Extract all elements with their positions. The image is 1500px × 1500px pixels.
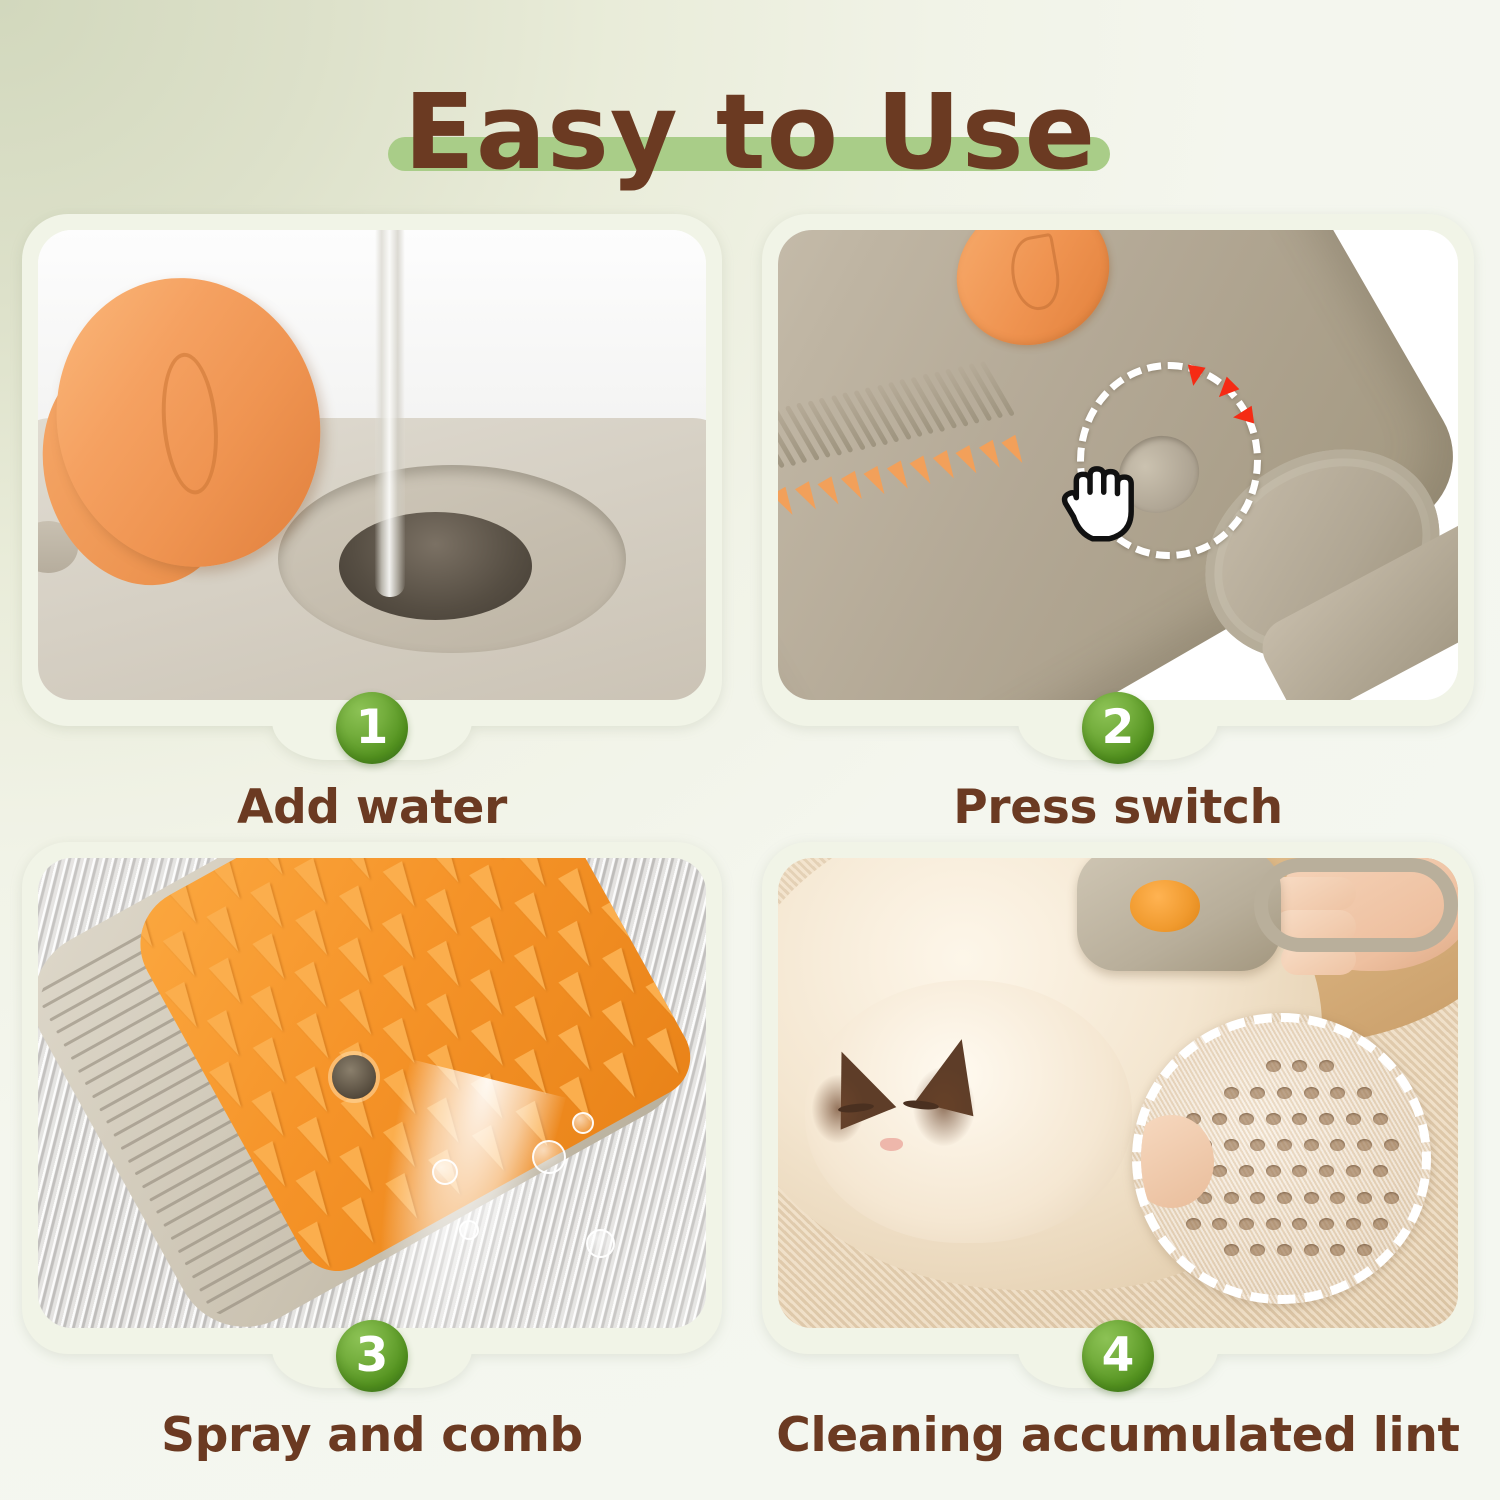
step-photo-4: [778, 858, 1458, 1328]
photo4-bristle-hole: [1212, 1218, 1227, 1230]
photo3-silicone-spike: [426, 993, 468, 1044]
photo3-silicone-spike: [601, 1001, 643, 1052]
photo4-bristle-hole: [1319, 1218, 1334, 1230]
step-number-2: 2: [1102, 704, 1135, 751]
photo3-silicone-spike: [338, 938, 380, 989]
photo3-silicone-spike: [382, 913, 424, 964]
photo3-comb-line: [199, 1229, 308, 1291]
photo3-silicone-spike: [558, 1025, 600, 1076]
photo4-bristle-hole: [1304, 1192, 1319, 1204]
photo4-bristle-hole: [1304, 1139, 1319, 1151]
photo4-cat-nose: [880, 1138, 903, 1151]
step-badge-1: 1: [336, 692, 408, 764]
photo4-bristle-hole: [1277, 1192, 1292, 1204]
photo3-silicone-spike: [207, 1010, 249, 1061]
photo3-silicone-spike: [296, 1170, 338, 1221]
photo3-silicone-spike: [514, 945, 556, 996]
photo4-bristle-hole: [1330, 1244, 1345, 1256]
photo3-silicone-spike: [250, 882, 292, 933]
photo4-bristle-hole: [1346, 1165, 1361, 1177]
photo4-bristle-hole: [1224, 1244, 1239, 1256]
photo4-bristle-hole: [1373, 1113, 1388, 1125]
step-photo-1: [38, 230, 706, 700]
photo3-silicone-spike: [383, 965, 425, 1016]
photo4-bristle-hole: [1224, 1139, 1239, 1151]
photo4-inset-thumb: [1132, 1115, 1214, 1208]
step-caption-2: Press switch: [762, 780, 1474, 835]
photo3-silicone-spike: [515, 996, 557, 1047]
photo3-silicone-spike: [558, 868, 600, 919]
photo3-comb-line: [156, 1152, 265, 1214]
photo3-silicone-spike: [471, 1020, 513, 1071]
step-photo-3: [38, 858, 706, 1328]
photo3-silicone-spike: [251, 986, 293, 1037]
photo4-bristle-hole: [1239, 1113, 1254, 1125]
photo3-comb-line: [114, 1075, 223, 1137]
photo3-comb-line: [178, 1191, 287, 1253]
photo4-bristle-hole: [1357, 1087, 1372, 1099]
photo4-bristle-hole: [1212, 1113, 1227, 1125]
photo3-comb-line: [171, 1178, 280, 1240]
photo3-comb-line: [57, 972, 166, 1034]
photo4-bristle-hole: [1357, 1139, 1372, 1151]
photo2-click-spark-1: [1184, 365, 1205, 388]
photo4-bristle-hole: [1319, 1060, 1334, 1072]
photo3-comb-line: [49, 959, 158, 1021]
title-wrapper: Easy to Use: [404, 77, 1096, 187]
photo3-comb-line: [85, 1023, 194, 1085]
photo3-steam-nozzle: [332, 1055, 376, 1099]
photo3-silicone-spike: [470, 969, 512, 1020]
step-badge-2: 2: [1082, 692, 1154, 764]
photo4-bristle-hole: [1277, 1087, 1292, 1099]
photo4-brush-device: [1077, 858, 1281, 971]
photo3-silicone-spike: [426, 889, 468, 940]
step-badge-4: 4: [1082, 1320, 1154, 1392]
photo3-silicone-spike: [339, 885, 381, 936]
step-caption-1: Add water: [22, 780, 722, 835]
photo3-comb-line: [192, 1217, 301, 1279]
photo4-bristle-hole: [1212, 1165, 1227, 1177]
photo3-silicone-spike: [603, 1052, 645, 1103]
photo4-bristle-hole: [1292, 1060, 1307, 1072]
photo4-bristle-hole: [1330, 1139, 1345, 1151]
photo3-comb-line: [99, 1049, 208, 1111]
photo3-comb-line: [128, 1101, 237, 1163]
photo3-silicone-spike: [470, 858, 512, 863]
photo3-silicone-spike: [296, 1013, 338, 1064]
photo4-bristle-hole: [1384, 1139, 1399, 1151]
hand-cursor-icon: [1057, 451, 1145, 547]
photo3-bubble-3: [432, 1159, 458, 1185]
photo1-water-stream: [375, 230, 405, 597]
photo4-bristle-hole: [1330, 1192, 1345, 1204]
photo3-silicone-spike: [251, 858, 293, 880]
photo4-bristle-hole: [1357, 1192, 1372, 1204]
photo4-bristle-hole: [1357, 1244, 1372, 1256]
photo3-comb-line: [135, 1114, 244, 1176]
photo4-bristle-hole: [1292, 1113, 1307, 1125]
photo4-bristle-hole: [1266, 1113, 1281, 1125]
page-title-block: Easy to Use: [0, 62, 1500, 202]
photo3-silicone-spike: [338, 858, 380, 884]
photo4-bristle-hole: [1224, 1192, 1239, 1204]
photo4-bristle-hole: [1250, 1087, 1265, 1099]
photo3-silicone-spike: [297, 1117, 339, 1168]
photo4-bristle-hole: [1319, 1165, 1334, 1177]
photo3-silicone-spike: [207, 906, 249, 957]
photo3-silicone-spike: [208, 957, 250, 1008]
photo3-comb-line: [121, 1088, 230, 1150]
photo3-silicone-spike: [469, 865, 511, 916]
photo4-bristle-hole: [1304, 1087, 1319, 1099]
photo1-fill-hole-opening: [339, 512, 533, 620]
photo4-bristle-hole: [1292, 1165, 1307, 1177]
page-title: Easy to Use: [404, 77, 1096, 187]
photo3-silicone-spike: [252, 1090, 294, 1141]
photo4-bristle-hole: [1266, 1165, 1281, 1177]
photo4-brush-handle-loop: [1254, 858, 1458, 952]
photo3-silicone-spike: [514, 892, 556, 943]
steps-grid: 1 Add water: [0, 214, 1500, 1500]
photo3-comb-line: [149, 1139, 258, 1201]
photo3-comb-line: [64, 985, 173, 1047]
photo3-silicone-spike: [253, 1037, 295, 1088]
photo3-silicone-spike: [383, 861, 425, 912]
photo4-bristle-hole: [1250, 1244, 1265, 1256]
photo3-comb-line: [164, 1165, 273, 1227]
photo3-comb-line: [92, 1036, 201, 1098]
step-photo-2: [778, 230, 1458, 700]
photo3-silicone-spike: [557, 921, 599, 972]
photo2-click-spark-3: [1231, 406, 1253, 427]
photo3-silicone-spike: [340, 989, 382, 1040]
photo3-silicone-spike: [294, 858, 336, 909]
photo4-bristle-hole: [1250, 1192, 1265, 1204]
photo4-bristle-hole: [1250, 1139, 1265, 1151]
photo4-bristle-hole: [1304, 1244, 1319, 1256]
photo3-silicone-spike: [163, 930, 205, 981]
photo3-silicone-spike: [471, 916, 513, 967]
step-badge-3: 3: [336, 1320, 408, 1392]
photo4-cat-face: [805, 980, 1131, 1243]
photo3-silicone-spike: [559, 972, 601, 1023]
photo4-brush-button: [1130, 880, 1199, 931]
photo3-comb-line: [142, 1126, 251, 1188]
photo4-bristle-hole: [1224, 1087, 1239, 1099]
photo3-silicone-spike: [340, 1093, 382, 1144]
photo3-silicone-spike: [295, 962, 337, 1013]
photo4-bristle-hole: [1346, 1113, 1361, 1125]
photo4-bristle-hole: [1346, 1218, 1361, 1230]
step-card-3: 3 Spray and comb: [22, 842, 722, 1482]
photo4-bristle-hole: [1239, 1165, 1254, 1177]
photo3-comb-line: [107, 1062, 216, 1124]
infographic-root: Easy to Use 1 Add water: [0, 0, 1500, 1500]
photo4-bristle-hole: [1266, 1060, 1281, 1072]
photo4-bristle-hole: [1277, 1244, 1292, 1256]
photo3-comb-line: [185, 1204, 294, 1266]
photo3-silicone-spike: [427, 941, 469, 992]
photo3-silicone-spike: [252, 933, 294, 984]
photo3-silicone-spike: [647, 1028, 689, 1079]
step-number-4: 4: [1102, 1332, 1135, 1379]
photo4-bristle-hole: [1384, 1192, 1399, 1204]
photo4-bristle-hole: [1330, 1087, 1345, 1099]
photo3-silicone-spike: [513, 858, 555, 892]
step-card-4: 4 Cleaning accumulated lint: [762, 842, 1474, 1482]
photo4-bristle-hole: [1277, 1139, 1292, 1151]
photo4-bristle-hole: [1292, 1218, 1307, 1230]
photo3-bubble-5: [586, 1229, 615, 1258]
photo4-bristle-hole: [1239, 1218, 1254, 1230]
photo4-bristle-hole: [1373, 1165, 1388, 1177]
step-number-1: 1: [356, 704, 389, 751]
step-card-1: 1 Add water: [22, 214, 722, 834]
photo3-silicone-spike: [381, 858, 423, 860]
photo3-bubble-4: [459, 1220, 479, 1240]
photo4-lint-closeup-inset: [1132, 1013, 1431, 1304]
photo3-silicone-spike: [295, 1066, 337, 1117]
step-caption-4: Cleaning accumulated lint: [762, 1408, 1474, 1463]
step-card-2: 2 Press switch: [762, 214, 1474, 834]
step-caption-3: Spray and comb: [22, 1408, 722, 1463]
photo3-comb-line: [71, 998, 180, 1060]
photo2-comb-pin: [1002, 434, 1030, 466]
photo3-silicone-spike: [340, 1146, 382, 1197]
photo4-bristle-hole: [1186, 1218, 1201, 1230]
photo3-silicone-spike: [426, 858, 468, 887]
photo4-bristle-hole: [1373, 1218, 1388, 1230]
step-number-3: 3: [356, 1332, 389, 1379]
photo4-bristle-hole: [1319, 1113, 1334, 1125]
photo3-silicone-spike: [296, 909, 338, 960]
photo3-comb-line: [78, 1011, 187, 1073]
photo3-silicone-spike: [602, 948, 644, 999]
photo4-bristle-hole: [1266, 1218, 1281, 1230]
